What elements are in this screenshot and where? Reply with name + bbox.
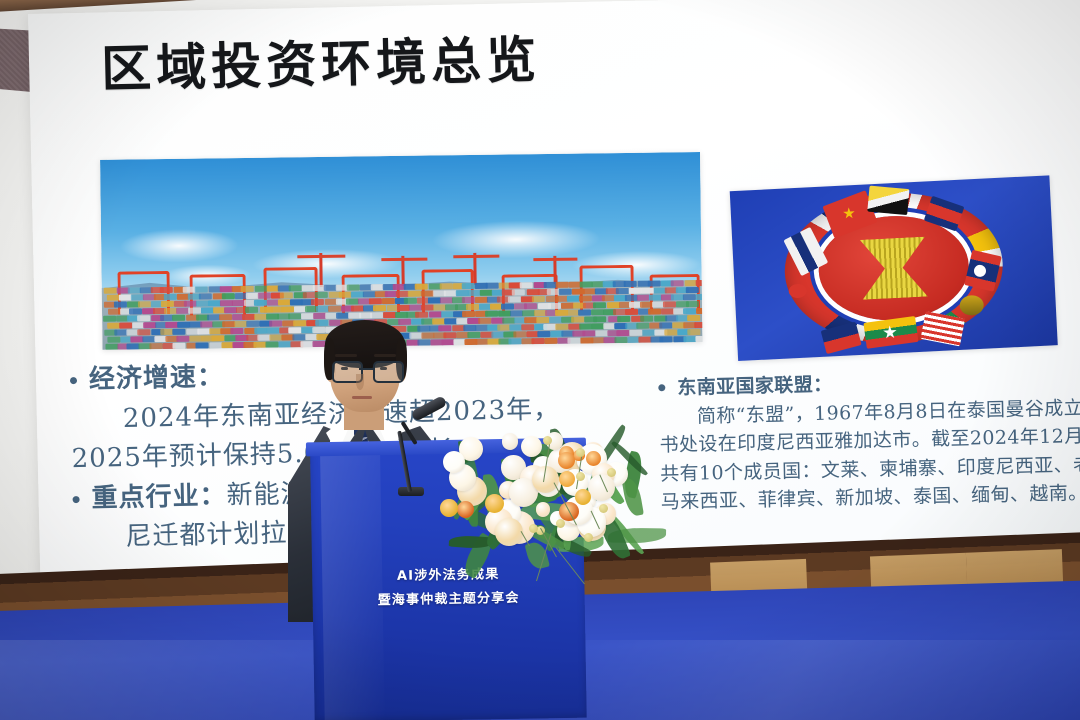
shipping-container (555, 324, 568, 330)
bullet-label: 东南亚国家联盟： (677, 371, 833, 403)
shipping-container (544, 338, 557, 344)
shipping-container (607, 302, 620, 308)
shipping-container (625, 295, 638, 301)
shipping-container (567, 338, 580, 344)
shipping-container (108, 309, 121, 315)
podium-sign-line-2: 暨海事仲裁主题分享会 (312, 586, 584, 615)
shipping-container (512, 289, 525, 295)
shipping-container (338, 292, 351, 298)
shipping-container (617, 316, 630, 322)
shipping-container (408, 291, 421, 297)
shipping-container (547, 303, 560, 309)
shipping-container (165, 322, 178, 328)
shipping-container (346, 284, 359, 290)
shipping-container (648, 281, 661, 287)
flag-indonesia (959, 295, 984, 316)
shipping-container (114, 330, 127, 336)
shipping-container (582, 288, 595, 294)
shipping-container (197, 328, 210, 334)
shipping-container (509, 338, 522, 344)
shipping-container (336, 313, 349, 319)
shipping-container (648, 309, 661, 315)
shipping-container (537, 331, 550, 337)
shipping-container (566, 296, 579, 302)
shipping-container (520, 282, 533, 288)
shipping-container (532, 296, 545, 302)
eyeglass-lens-right (373, 361, 404, 383)
shipping-container (107, 323, 120, 329)
shipping-container (508, 296, 521, 302)
shipping-container (161, 301, 174, 307)
shipping-container (440, 283, 453, 289)
shipping-container (219, 314, 232, 320)
shipping-container (421, 290, 434, 296)
shipping-container (466, 304, 479, 310)
shipping-container (369, 298, 382, 304)
shipping-container (245, 293, 258, 299)
shipping-container (686, 301, 699, 307)
shipping-container (630, 330, 643, 336)
shipping-container (695, 336, 703, 342)
shipping-container (269, 334, 282, 340)
shipping-container (245, 307, 258, 313)
shipping-container (212, 335, 225, 341)
shipping-container (502, 317, 515, 323)
shipping-container (521, 324, 534, 330)
shipping-container (593, 302, 606, 308)
shipping-container (640, 302, 653, 308)
crane-boom (297, 255, 345, 259)
shipping-container (687, 315, 700, 321)
shipping-container (559, 289, 572, 295)
shipping-container (683, 308, 696, 314)
shipping-container (522, 310, 535, 316)
shipping-container (671, 294, 684, 300)
shipping-container (462, 311, 475, 317)
shipping-container (107, 337, 120, 343)
flag-brunei (867, 186, 909, 215)
shipping-container (172, 329, 185, 335)
shipping-container (624, 281, 637, 287)
flower-bloom (495, 518, 523, 546)
shipping-container (396, 291, 409, 297)
shipping-container (695, 280, 702, 286)
shipping-container (686, 287, 699, 293)
shipping-container (467, 290, 480, 296)
shipping-container (462, 297, 475, 303)
shipping-container (311, 299, 324, 305)
shipping-container (242, 314, 255, 320)
shipping-container (103, 316, 116, 322)
shipping-container (696, 308, 702, 314)
eyeglass-bridge (359, 368, 373, 370)
shipping-container (415, 312, 428, 318)
shipping-container (661, 308, 674, 314)
shipping-container (160, 287, 173, 293)
shipping-container (415, 284, 428, 290)
shipping-container (137, 315, 150, 321)
shipping-container (514, 331, 527, 337)
port-photo (100, 152, 702, 350)
shipping-container (301, 313, 314, 319)
shipping-container (246, 321, 259, 327)
nose (356, 374, 364, 390)
shipping-container (199, 293, 212, 299)
shipping-container (209, 342, 222, 348)
flower-bud (607, 468, 616, 477)
eyebrow-right (374, 354, 396, 357)
shipping-container (220, 300, 233, 306)
bullet-dot-icon (658, 385, 665, 392)
shipping-container (579, 295, 592, 301)
shipping-container (578, 309, 591, 315)
shipping-container (659, 336, 672, 342)
shipping-container (524, 303, 537, 309)
flower-bloom (443, 451, 465, 473)
eyebrow-left (335, 354, 357, 357)
slide-right-text: 东南亚国家联盟： 简称“东盟”，1967年8月8日在泰国曼谷成立， 书处设在印度… (658, 365, 1080, 517)
shipping-container (257, 293, 270, 299)
shipping-container (613, 309, 626, 315)
shipping-container (254, 286, 267, 292)
shipping-container (114, 302, 127, 308)
shipping-container (119, 322, 132, 328)
shipping-container (176, 336, 189, 342)
shipping-container (593, 316, 606, 322)
shipping-container (549, 317, 562, 323)
shipping-container (382, 298, 395, 304)
shipping-container (172, 315, 185, 321)
shipping-container (617, 330, 630, 336)
shipping-container (583, 330, 596, 336)
flower-bloom-accent (440, 499, 458, 517)
flower-bloom (521, 436, 542, 457)
shipping-container (659, 322, 672, 328)
shipping-container (547, 289, 560, 295)
shipping-container (183, 301, 196, 307)
shipping-container (637, 323, 650, 329)
flower-bud (556, 519, 565, 528)
shipping-container (130, 294, 143, 300)
shipping-container (638, 337, 651, 343)
flower-bud (576, 472, 585, 481)
shipping-container (555, 282, 568, 288)
shipping-container (164, 294, 177, 300)
shipping-container (241, 286, 254, 292)
shipping-container (571, 317, 584, 323)
shipping-container (683, 294, 696, 300)
shipping-container (196, 342, 209, 348)
shipping-container (201, 307, 214, 313)
flower-bloom-accent (586, 451, 601, 466)
shipping-container (363, 291, 376, 297)
shipping-container (230, 328, 243, 334)
shipping-container (373, 305, 386, 311)
ship-to-shore-crane (319, 253, 322, 287)
bullet-dot-icon (70, 377, 77, 384)
shipping-container (432, 304, 445, 310)
mouth (352, 396, 372, 399)
shipping-container (696, 294, 703, 300)
shipping-container (694, 322, 702, 328)
shipping-container (485, 311, 498, 317)
shipping-container (543, 324, 556, 330)
bullet-dot-icon (73, 496, 80, 503)
flower-arrangement (428, 424, 618, 564)
shipping-container (671, 280, 684, 286)
shipping-container (616, 288, 629, 294)
shipping-container (664, 329, 677, 335)
asean-emblem-photo (730, 175, 1058, 361)
shipping-container (222, 293, 235, 299)
crane-boom (533, 258, 577, 262)
shipping-container (532, 338, 545, 344)
shipping-container (105, 344, 118, 350)
shipping-container (253, 300, 266, 306)
flower-bud (599, 504, 608, 513)
flower-bud (543, 436, 552, 445)
shipping-container (370, 312, 383, 318)
shipping-container (397, 305, 410, 311)
shipping-container (128, 287, 141, 293)
shipping-container (641, 288, 654, 294)
shipping-container (404, 298, 417, 304)
shipping-container (173, 343, 186, 349)
screenshot-root: 区域投资环境总览 (0, 0, 1080, 720)
shipping-container (137, 329, 150, 335)
shipping-container (315, 292, 328, 298)
shipping-container (281, 306, 294, 312)
shipping-container (177, 322, 190, 328)
shipping-container (129, 308, 142, 314)
shipping-container (421, 304, 434, 310)
shipping-container (640, 316, 653, 322)
shipping-container (625, 309, 638, 315)
eyeglasses-icon (332, 361, 400, 379)
flower-bud (576, 448, 585, 457)
shipping-container (351, 305, 364, 311)
shipping-container (497, 324, 510, 330)
shipping-container (280, 292, 293, 298)
shipping-container (428, 297, 441, 303)
shipping-container (649, 295, 662, 301)
crane-boom (453, 255, 499, 259)
shipping-container (104, 288, 117, 294)
shipping-container (536, 317, 549, 323)
bullet-label: 重点行业： (91, 480, 227, 513)
slide-title: 区域投资环境总览 (101, 33, 542, 97)
shipping-container (485, 283, 498, 289)
shipping-container (629, 288, 642, 294)
flower-bud (584, 533, 593, 542)
shipping-container (501, 303, 514, 309)
shipping-container (289, 285, 302, 291)
shipping-container (543, 282, 556, 288)
flower-bloom (502, 433, 519, 450)
bullet-label: 经济增速： (89, 358, 225, 400)
crane-boom (381, 258, 427, 262)
shipping-container (137, 301, 150, 307)
shipping-container (328, 306, 341, 312)
shipping-container (269, 320, 282, 326)
shipping-container (288, 313, 301, 319)
shipping-container (188, 308, 201, 314)
shipping-container (195, 286, 208, 292)
shipping-container (149, 343, 162, 349)
shipping-container (687, 329, 700, 335)
shipping-container (461, 283, 474, 289)
shipping-container (254, 328, 267, 334)
shipping-container (266, 342, 279, 348)
flower-bloom-accent (558, 452, 575, 469)
shipping-container (615, 337, 628, 343)
shipping-container (267, 328, 280, 334)
shipping-container (234, 321, 247, 327)
shipping-container (663, 301, 676, 307)
podium-sign: AI涉外法务成果 暨海事仲裁主题分享会 (312, 562, 585, 615)
shipping-container (207, 314, 220, 320)
shipping-container (254, 314, 267, 320)
